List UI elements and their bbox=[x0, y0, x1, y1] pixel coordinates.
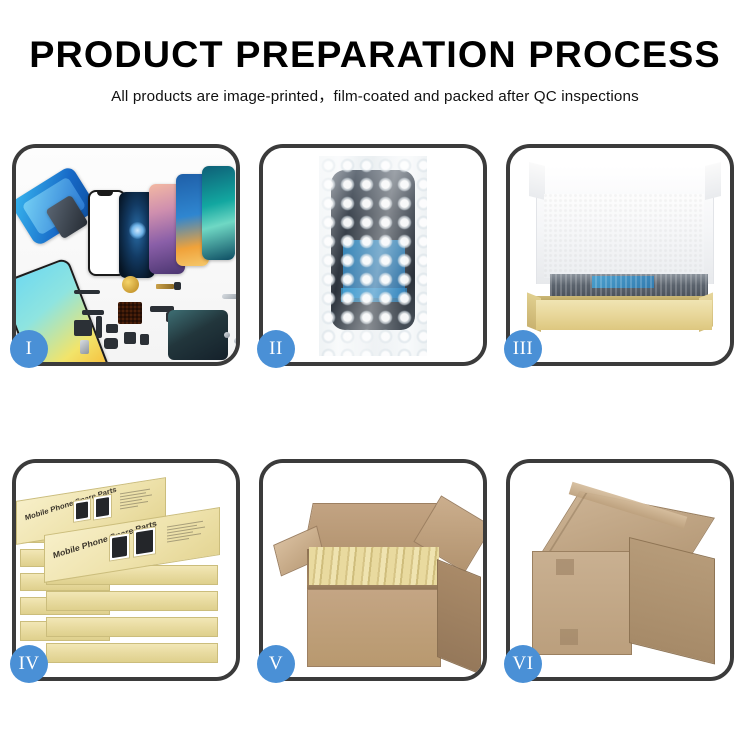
spare-parts-cluster bbox=[74, 276, 236, 362]
sealed-carton-side-graphic bbox=[629, 537, 715, 664]
page-subtitle: All products are image-printed，film-coat… bbox=[0, 75, 750, 106]
product-preparation-infographic: PRODUCT PREPARATION PROCESS All products… bbox=[0, 0, 750, 750]
step-5-image bbox=[263, 463, 483, 677]
process-step-3: III bbox=[506, 144, 734, 366]
box-stack-graphic: Mobile Phone Spare Parts Mobile Phone Sp… bbox=[16, 463, 236, 677]
step-badge-4: IV bbox=[10, 645, 48, 683]
foam-liner-graphic bbox=[544, 194, 704, 278]
page-title: PRODUCT PREPARATION PROCESS bbox=[0, 0, 750, 75]
step-badge-1: I bbox=[10, 330, 48, 368]
process-step-4: Mobile Phone Spare Parts Mobile Phone Sp… bbox=[12, 459, 240, 681]
carton-handle-tab-lower bbox=[560, 629, 578, 645]
process-step-5: V bbox=[259, 459, 487, 681]
plastic-sheen bbox=[319, 156, 427, 356]
step-3-image bbox=[510, 148, 730, 362]
process-step-1: I bbox=[12, 144, 240, 366]
step-6-image bbox=[510, 463, 730, 677]
step-badge-6: VI bbox=[504, 645, 542, 683]
phone-teal-wallpaper-graphic bbox=[202, 166, 235, 260]
step-1-image bbox=[16, 148, 236, 362]
process-step-grid: I II III bbox=[12, 144, 740, 684]
process-step-6: VI bbox=[506, 459, 734, 681]
carton-front-panel-graphic bbox=[307, 589, 441, 667]
step-badge-3: III bbox=[504, 330, 542, 368]
header: PRODUCT PREPARATION PROCESS All products… bbox=[0, 0, 750, 106]
step-badge-5: V bbox=[257, 645, 295, 683]
carton-side-panel-graphic bbox=[437, 559, 481, 675]
box-front-graphic bbox=[536, 300, 712, 330]
step-4-image: Mobile Phone Spare Parts Mobile Phone Sp… bbox=[16, 463, 236, 677]
step-badge-2: II bbox=[257, 330, 295, 368]
process-step-2: II bbox=[259, 144, 487, 366]
carton-handle-tab-upper bbox=[556, 559, 574, 575]
sealed-carton-front-graphic bbox=[532, 551, 632, 655]
step-2-image bbox=[263, 148, 483, 362]
